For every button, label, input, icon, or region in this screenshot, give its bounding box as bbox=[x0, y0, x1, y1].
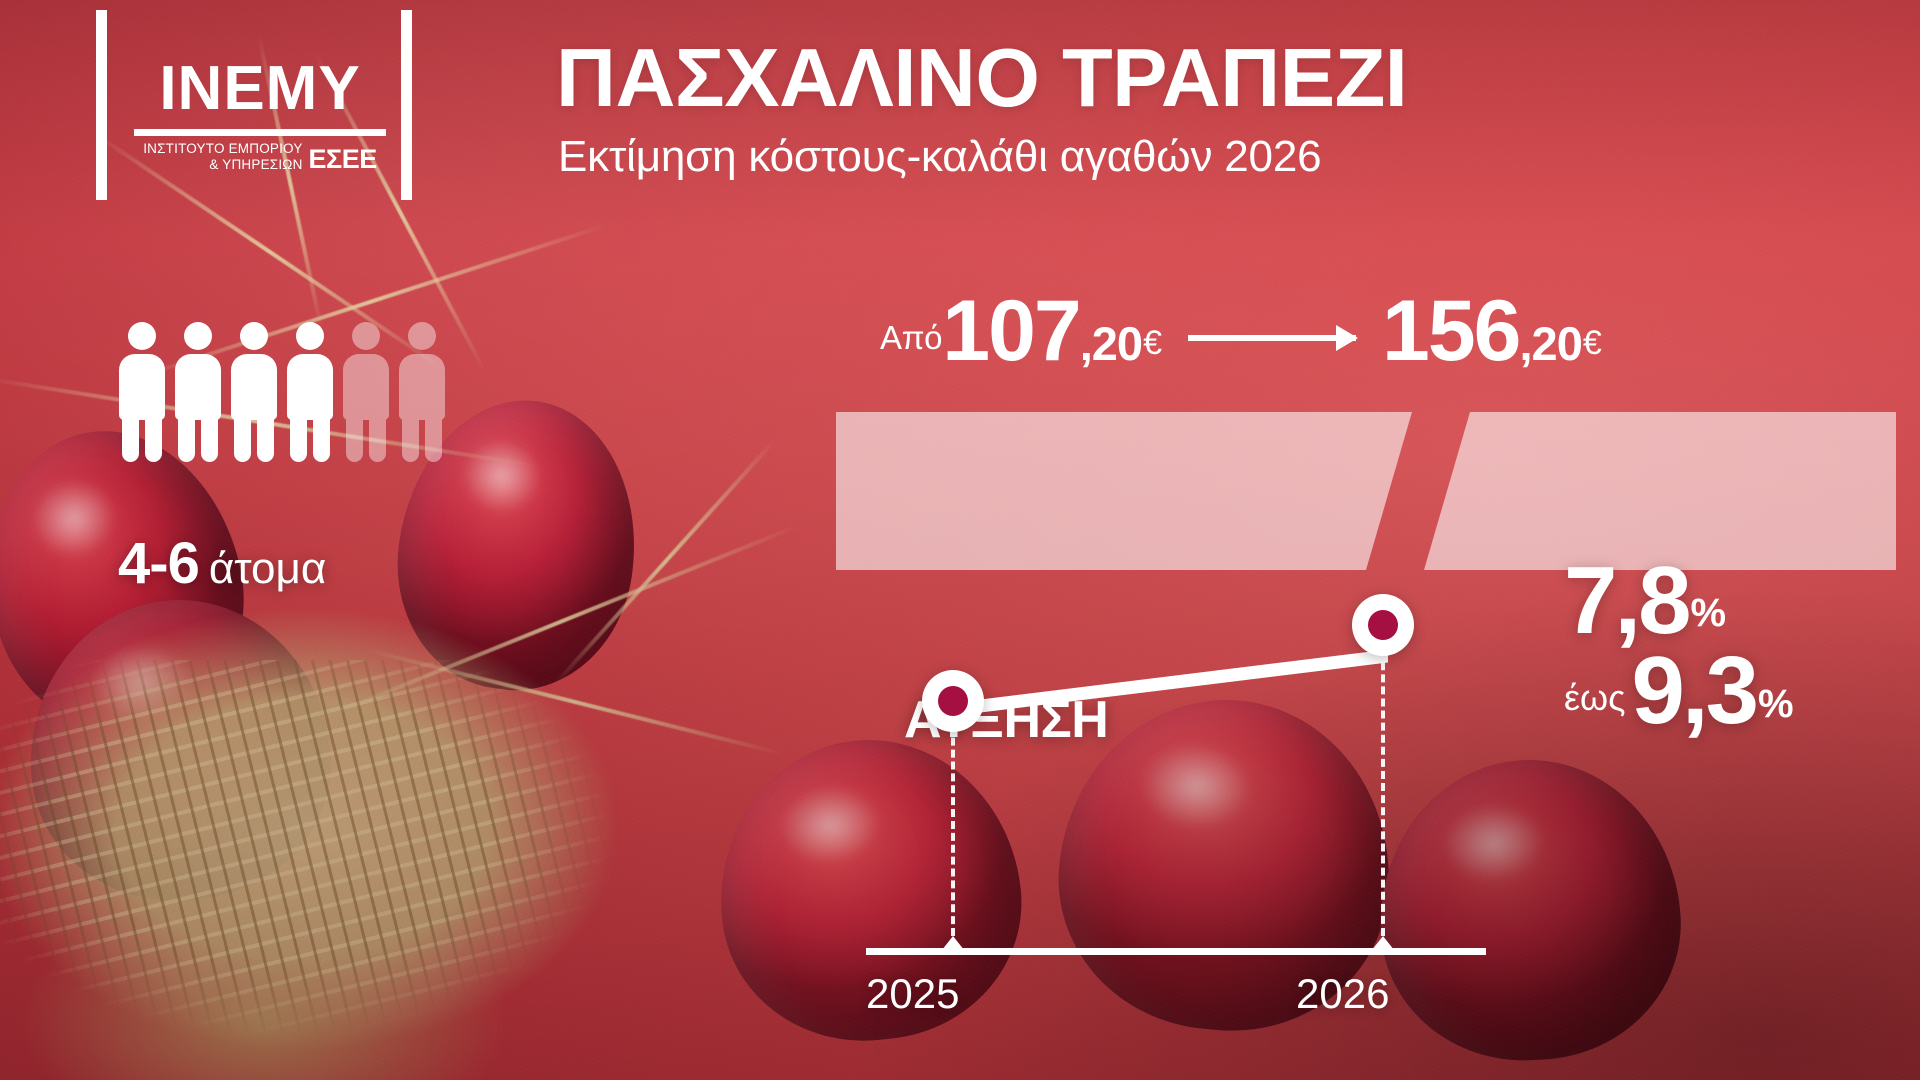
old-price-currency: € bbox=[1143, 324, 1162, 371]
logo-bracket-right bbox=[401, 10, 412, 200]
increase-high-symbol: % bbox=[1758, 682, 1794, 735]
old-price-decimal: ,20 bbox=[1080, 320, 1142, 371]
people-count-number: 4-6 bbox=[118, 531, 199, 596]
new-price-decimal: ,20 bbox=[1520, 320, 1582, 371]
person-icon-dimmed bbox=[342, 322, 390, 462]
data-point-2026 bbox=[1352, 594, 1414, 656]
person-icon bbox=[118, 322, 166, 462]
people-count-word: άτομα bbox=[209, 544, 326, 593]
person-icon-dimmed bbox=[398, 322, 446, 462]
cost-bar-graphic bbox=[836, 412, 1896, 570]
page-title: ΠΑΣΧΑΛΙΝΟ ΤΡΑΠΕΖΙ bbox=[556, 36, 1407, 119]
increase-range-connector: έως bbox=[1564, 677, 1626, 735]
increase-percent-block: 7,8 % έως 9,3 % bbox=[1564, 558, 1894, 735]
price-comparison-row: Από 107 ,20 € 156 ,20 € bbox=[880, 275, 1890, 371]
axis-tick-2026 bbox=[1368, 936, 1398, 955]
arrow-right-icon bbox=[1188, 335, 1356, 341]
price-from-label: Από bbox=[880, 319, 942, 371]
page-subtitle: Εκτίμηση κόστους-καλάθι αγαθών 2026 bbox=[558, 135, 1407, 179]
logo-subtitle-line1: ΙΝΣΤΙΤΟΥΤΟ ΕΜΠΟΡΙΟΥ bbox=[143, 141, 302, 157]
logo-divider bbox=[134, 129, 386, 136]
axis-label-2026: 2026 bbox=[1296, 970, 1389, 1018]
inemy-logo: ΙΝΕΜΥ ΙΝΣΤΙΤΟΥΤΟ ΕΜΠΟΡΙΟΥ & ΥΠΗΡΕΣΙΩΝ ΕΣ… bbox=[96, 10, 412, 200]
axis-tick-2025 bbox=[938, 936, 968, 955]
logo-bracket-left bbox=[96, 10, 107, 200]
person-icon bbox=[174, 322, 222, 462]
cost-bar-2025 bbox=[836, 412, 1412, 570]
axis-label-2025: 2025 bbox=[866, 970, 959, 1018]
data-point-2025 bbox=[922, 670, 984, 732]
logo-org-name: ΕΣΕΕ bbox=[309, 147, 377, 172]
person-icon bbox=[230, 322, 278, 462]
logo-name: ΙΝΕΜΥ bbox=[130, 58, 390, 120]
header-block: ΠΑΣΧΑΛΙΝΟ ΤΡΑΠΕΖΙ Εκτίμηση κόστους-καλάθ… bbox=[556, 36, 1407, 179]
increase-high-value: 9,3 bbox=[1632, 648, 1756, 734]
people-count-label: 4-6άτομα bbox=[118, 530, 326, 597]
new-price-currency: € bbox=[1583, 324, 1602, 371]
logo-subtitle-line2: & ΥΠΗΡΕΣΙΩΝ bbox=[143, 157, 302, 173]
trend-line bbox=[964, 650, 1388, 714]
infographic-canvas: ΙΝΕΜΥ ΙΝΣΤΙΤΟΥΤΟ ΕΜΠΟΡΙΟΥ & ΥΠΗΡΕΣΙΩΝ ΕΣ… bbox=[0, 0, 1920, 1080]
person-icon bbox=[286, 322, 334, 462]
old-price-integer: 107 bbox=[942, 292, 1080, 371]
people-icon-row bbox=[118, 322, 446, 462]
new-price-integer: 156 bbox=[1382, 292, 1520, 371]
increase-low-value: 7,8 bbox=[1564, 558, 1688, 644]
drop-line-2025 bbox=[951, 702, 955, 936]
increase-line-chart: ΑΥΞΗΣΗ 2025 2026 7,8 % έως 9,3 % bbox=[846, 640, 1906, 1040]
